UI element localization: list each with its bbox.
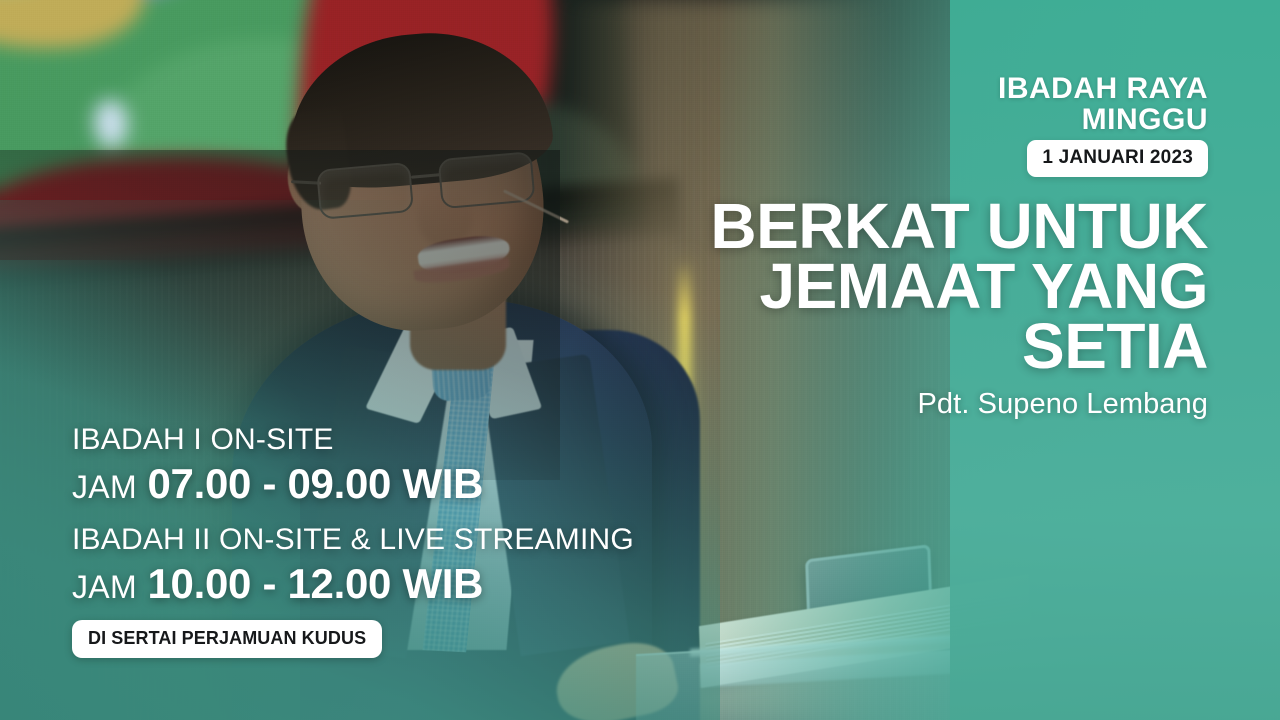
kicker-line-2: MINGGU [998,105,1208,136]
service-2-jam-label: JAM [72,569,137,605]
speaker-name: Pdt. Supeno Lembang [917,388,1208,421]
service-2-hours: 10.00 - 12.00 WIB [147,560,483,607]
service-block-2: IBADAH II ON-SITE & LIVE STREAMING JAM 1… [72,524,634,606]
headline-line-3: SETIA [508,316,1208,376]
headline-line-1: BERKAT UNTUK [508,196,1208,256]
service-2-name: IBADAH II ON-SITE & LIVE STREAMING [72,524,634,556]
service-block-1: IBADAH I ON-SITE JAM 07.00 - 09.00 WIB [72,424,483,506]
service-1-name: IBADAH I ON-SITE [72,424,483,456]
text-layer: IBADAH RAYA MINGGU 1 JANUARI 2023 BERKAT… [0,0,1280,720]
page-title: BERKAT UNTUK JEMAAT YANG SETIA [508,196,1208,376]
kicker-line-1: IBADAH RAYA [998,74,1208,105]
communion-badge: DI SERTAI PERJAMUAN KUDUS [72,620,382,658]
kicker-heading: IBADAH RAYA MINGGU [998,74,1208,135]
service-announcement-poster: IBADAH RAYA MINGGU 1 JANUARI 2023 BERKAT… [0,0,1280,720]
service-1-time: JAM 07.00 - 09.00 WIB [72,462,483,507]
service-1-jam-label: JAM [72,469,137,505]
service-2-time: JAM 10.00 - 12.00 WIB [72,562,634,607]
date-badge: 1 JANUARI 2023 [1027,140,1208,177]
service-1-hours: 07.00 - 09.00 WIB [147,460,483,507]
headline-line-2: JEMAAT YANG [508,256,1208,316]
